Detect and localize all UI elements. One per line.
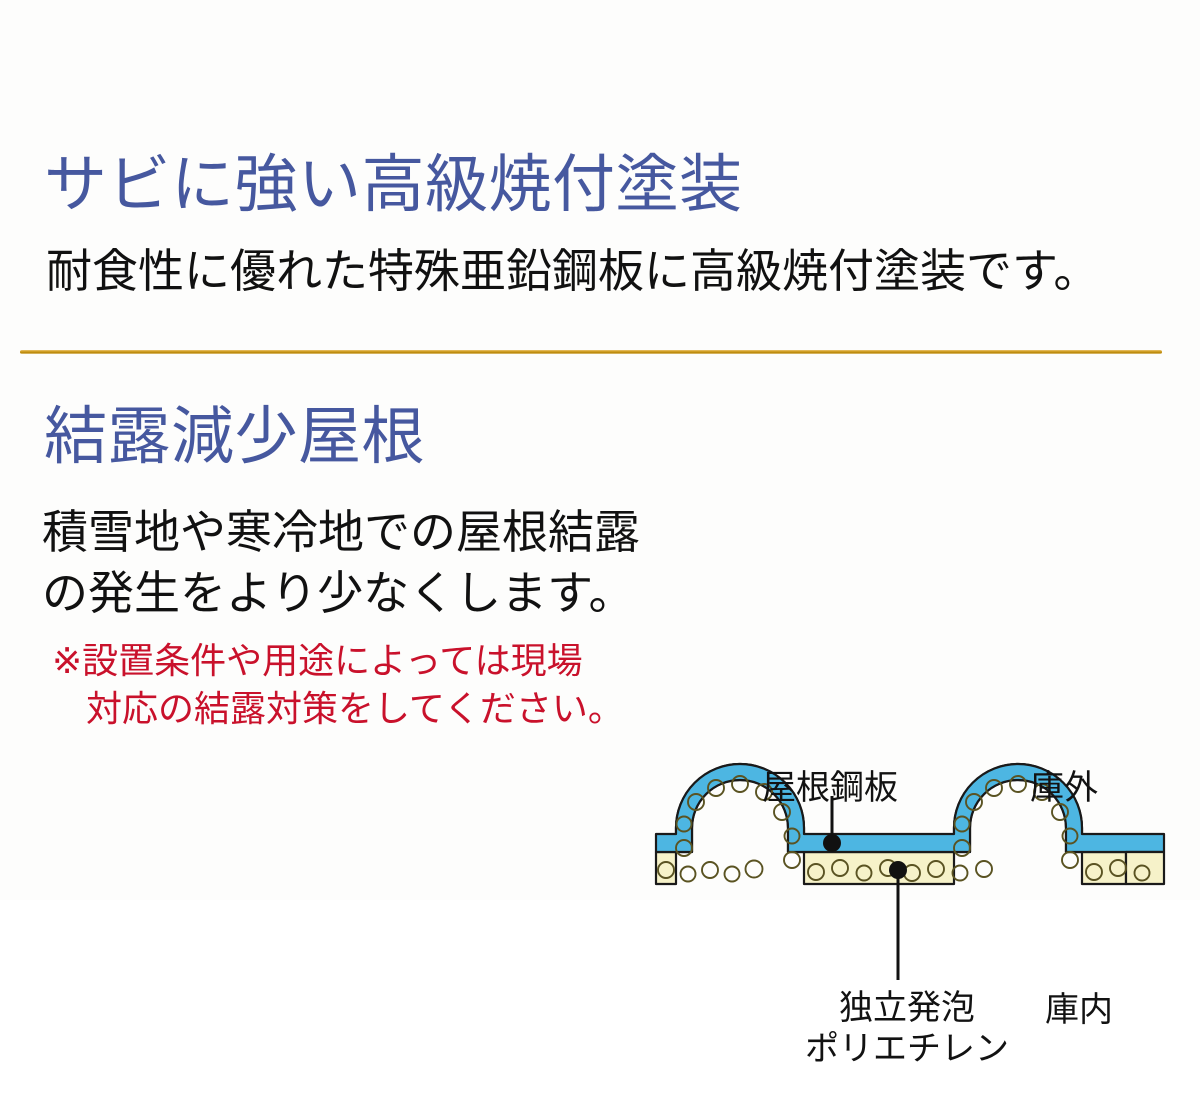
diagram-label-foam: 独立発泡 ポリエチレン [805, 988, 1009, 1071]
infographic-page: サビに強い高級焼付塗装 耐食性に優れた特殊亜鉛鋼板に高級焼付塗装です。 結露減少… [0, 0, 1200, 900]
diagram-label-foam-line-2: ポリエチレン [805, 1029, 1009, 1070]
section-condensation-reducing-roof: 結露減少屋根 積雪地や寒冷地での屋根結露 の発生をより少なくします。 ※設置条件… [0, 356, 1200, 900]
section-two-heading: 結露減少屋根 [44, 404, 425, 470]
section-divider [20, 350, 1162, 354]
section-two-body-line-2: の発生をより少なくします。 [42, 563, 640, 624]
diagram-label-foam-line-1: 独立発泡 [805, 988, 1009, 1029]
roof-cross-section-diagram: 屋根鋼板 庫外 独立発泡 ポリエチレン 庫内 [640, 752, 1180, 1112]
section-two-note-line-1: ※設置条件や用途によっては現場 [52, 638, 624, 686]
section-one-body: 耐食性に優れた特殊亜鉛鋼板に高級焼付塗装です。 [46, 246, 1099, 297]
section-rust-resistant-coating: サビに強い高級焼付塗装 耐食性に優れた特殊亜鉛鋼板に高級焼付塗装です。 [0, 0, 1200, 352]
section-one-heading: サビに強い高級焼付塗装 [44, 152, 743, 218]
diagram-label-exterior: 庫外 [1030, 768, 1098, 809]
section-two-note: ※設置条件や用途によっては現場 対応の結露対策をしてください。 [52, 638, 624, 734]
section-two-body: 積雪地や寒冷地での屋根結露 の発生をより少なくします。 [42, 502, 640, 623]
diagram-label-interior: 庫内 [1045, 990, 1113, 1031]
section-two-body-line-1: 積雪地や寒冷地での屋根結露 [42, 502, 640, 563]
section-two-note-line-2: 対応の結露対策をしてください。 [52, 686, 624, 734]
diagram-label-roof-steel-sheet: 屋根鋼板 [762, 768, 898, 809]
